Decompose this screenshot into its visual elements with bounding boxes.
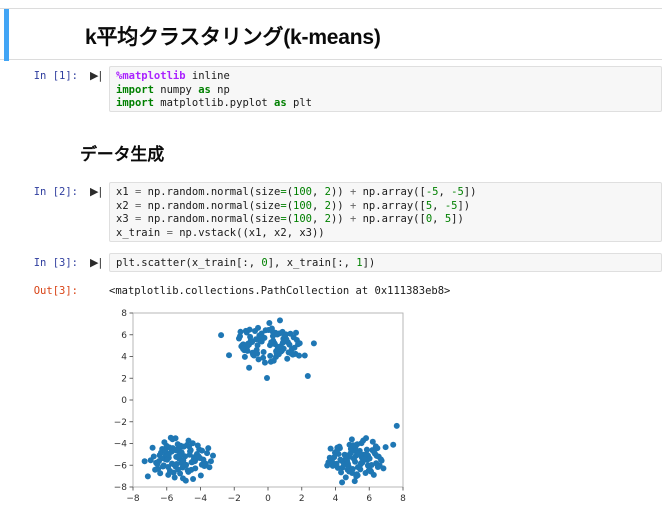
page-title: k平均クラスタリング(k-means) [85,21,381,51]
run-cell-icon-3[interactable]: ▶| [90,257,102,268]
svg-text:−2: −2 [228,494,241,504]
code-line: import numpy as np [116,84,655,98]
code-line: plt.scatter(x_train[:, 0], x_train[:, 1]… [116,257,655,271]
run-cell-icon-1[interactable]: ▶| [90,70,102,81]
svg-text:6: 6 [366,494,372,504]
svg-text:−8: −8 [114,483,128,493]
input-prompt-1[interactable]: In [1]: [14,70,78,82]
svg-text:4: 4 [333,494,339,504]
svg-text:8: 8 [400,494,406,504]
svg-text:−2: −2 [114,418,127,428]
code-line: %matplotlib inline [116,70,655,84]
svg-text:4: 4 [121,353,127,363]
input-prompt-2[interactable]: In [2]: [14,186,78,198]
code-input-cell-3[interactable]: plt.scatter(x_train[:, 0], x_train[:, 1]… [109,253,662,272]
svg-text:−6: −6 [114,461,128,471]
selected-cell-indicator [4,9,9,61]
svg-text:−6: −6 [160,494,174,504]
run-cell-icon-2[interactable]: ▶| [90,186,102,197]
code-line: import matplotlib.pyplot as plt [116,97,655,111]
svg-text:−8: −8 [126,494,140,504]
svg-text:−4: −4 [114,440,128,450]
svg-text:−4: −4 [194,494,208,504]
svg-text:2: 2 [299,494,305,504]
scatter-plot: −8−6−4−202468−8−6−4−202468 [105,303,415,521]
code-input-cell-2[interactable]: x1 = np.random.normal(size=(100, 2)) + n… [109,182,662,242]
code-line: x2 = np.random.normal(size=(100, 2)) + n… [116,200,655,214]
svg-text:0: 0 [265,494,271,504]
svg-text:0: 0 [121,396,127,406]
matplotlib-figure-output: −8−6−4−202468−8−6−4−202468 [105,303,415,521]
svg-text:6: 6 [121,331,127,341]
code-line: x_train = np.vstack((x1, x2, x3)) [116,227,655,241]
code-input-cell-1[interactable]: %matplotlib inlineimport numpy as npimpo… [109,66,662,112]
markdown-cell-title[interactable]: k平均クラスタリング(k-means) [0,8,662,60]
section-heading-data-generation: データ生成 [80,140,164,165]
code-line: x3 = np.random.normal(size=(100, 2)) + n… [116,213,655,227]
svg-text:2: 2 [121,374,127,384]
output-prompt-3: Out[3]: [14,285,78,297]
svg-text:8: 8 [121,309,127,319]
code-line: x1 = np.random.normal(size=(100, 2)) + n… [116,186,655,200]
input-prompt-3[interactable]: In [3]: [14,257,78,269]
output-text-result: <matplotlib.collections.PathCollection a… [109,285,450,297]
